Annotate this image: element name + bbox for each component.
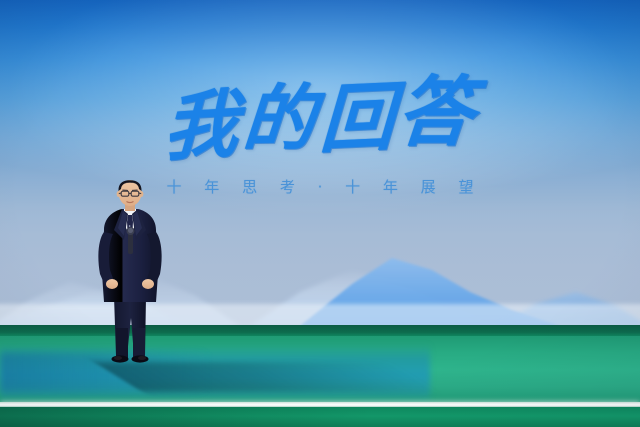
main-title: 我的回答 bbox=[0, 75, 640, 167]
title-char-4: 答 bbox=[394, 75, 481, 151]
stage-front-panel-shading bbox=[0, 407, 370, 427]
title-char-1: 我 bbox=[163, 87, 243, 166]
title-char-3: 回 bbox=[318, 80, 399, 157]
speaker-figure bbox=[84, 178, 176, 388]
conference-stage-photo: 我的回答 十 年 思 考 · 十 年 展 望 bbox=[0, 0, 640, 427]
title-char-2: 的 bbox=[241, 83, 322, 156]
